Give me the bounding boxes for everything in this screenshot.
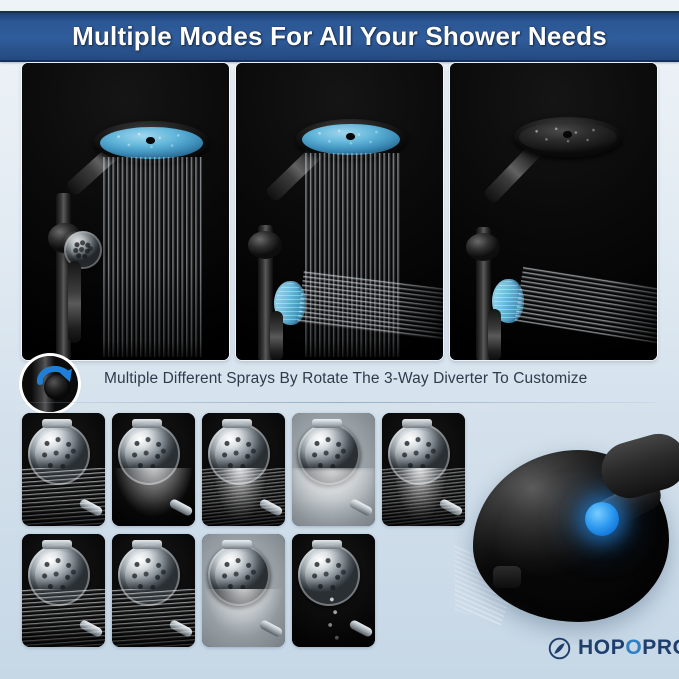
diverter-caption-text: Multiple Different Sprays By Rotate The … bbox=[104, 370, 587, 388]
spray-pattern bbox=[112, 589, 195, 647]
rain-water-streams bbox=[102, 157, 202, 357]
handheld-wand-body bbox=[270, 311, 283, 360]
spray-pattern bbox=[112, 468, 195, 526]
head-collar bbox=[132, 419, 162, 428]
logo-text-part2: PRO bbox=[642, 636, 679, 659]
page-title: Multiple Modes For All Your Shower Needs bbox=[72, 21, 607, 52]
head-collar bbox=[42, 540, 72, 549]
diverter-button-glow[interactable] bbox=[585, 502, 619, 536]
panel-scene bbox=[22, 63, 229, 360]
logo-wordmark: HOPOPRO bbox=[578, 636, 679, 660]
hero-panel-rain-only bbox=[22, 63, 229, 360]
title-banner: Multiple Modes For All Your Shower Needs bbox=[0, 11, 679, 62]
spray-pattern bbox=[202, 589, 285, 647]
spray-pattern bbox=[292, 589, 375, 647]
head-collar bbox=[132, 540, 162, 549]
handheld-wand-body bbox=[68, 261, 81, 343]
section-divider bbox=[22, 402, 657, 403]
hopopro-mark-icon bbox=[548, 637, 571, 660]
hero-panel-dual bbox=[236, 63, 443, 360]
diverter-caption-row: Multiple Different Sprays By Rotate The … bbox=[0, 362, 679, 400]
head-collar bbox=[402, 419, 432, 428]
spray-mode-row-2 bbox=[22, 534, 465, 647]
bar-bracket bbox=[466, 233, 500, 261]
spray-pattern bbox=[202, 468, 285, 526]
rain-head-hub bbox=[146, 137, 155, 144]
mode-trickle-pause[interactable] bbox=[292, 534, 375, 647]
mode-rainfall-jet[interactable] bbox=[382, 413, 465, 526]
spray-pattern bbox=[22, 468, 105, 526]
rain-head-hub bbox=[346, 133, 355, 140]
logo-text-part1: HOP bbox=[578, 636, 625, 659]
logo-text-accent: O bbox=[625, 636, 642, 659]
spray-mode-grid bbox=[22, 413, 465, 655]
rain-head-hub bbox=[563, 131, 572, 138]
head-collar bbox=[222, 540, 252, 549]
mode-soft-rain[interactable] bbox=[112, 534, 195, 647]
spray-pattern bbox=[292, 468, 375, 526]
spray-pattern bbox=[382, 468, 465, 526]
rotate-arrow-icon bbox=[36, 362, 74, 392]
mode-power-massage[interactable] bbox=[112, 413, 195, 526]
diverter-badge bbox=[22, 356, 78, 412]
head-collar bbox=[312, 540, 342, 549]
closeup-product-shot bbox=[455, 420, 679, 645]
brand-logo: HOPOPRO bbox=[548, 636, 679, 660]
hero-panel-row bbox=[22, 63, 657, 360]
handheld-wand-body bbox=[488, 309, 501, 360]
panel-scene bbox=[450, 63, 657, 360]
handheld-water-jet bbox=[515, 266, 657, 344]
mode-pulsating-massage[interactable] bbox=[202, 413, 285, 526]
mode-full-body-spray[interactable] bbox=[22, 413, 105, 526]
mode-rain-massage-combo[interactable] bbox=[22, 534, 105, 647]
closeup-outlet-notch bbox=[493, 566, 521, 588]
panel-scene bbox=[236, 63, 443, 360]
hero-panel-handheld-only bbox=[450, 63, 657, 360]
mode-water-saving-mist[interactable] bbox=[292, 413, 375, 526]
mode-mist-massage-combo[interactable] bbox=[202, 534, 285, 647]
bar-bracket bbox=[248, 231, 282, 259]
spray-pattern bbox=[22, 589, 105, 647]
head-collar bbox=[312, 419, 342, 428]
head-collar bbox=[222, 419, 252, 428]
head-collar bbox=[42, 419, 72, 428]
product-infographic: Multiple Modes For All Your Shower Needs bbox=[0, 0, 679, 679]
spray-mode-row-1 bbox=[22, 413, 465, 526]
